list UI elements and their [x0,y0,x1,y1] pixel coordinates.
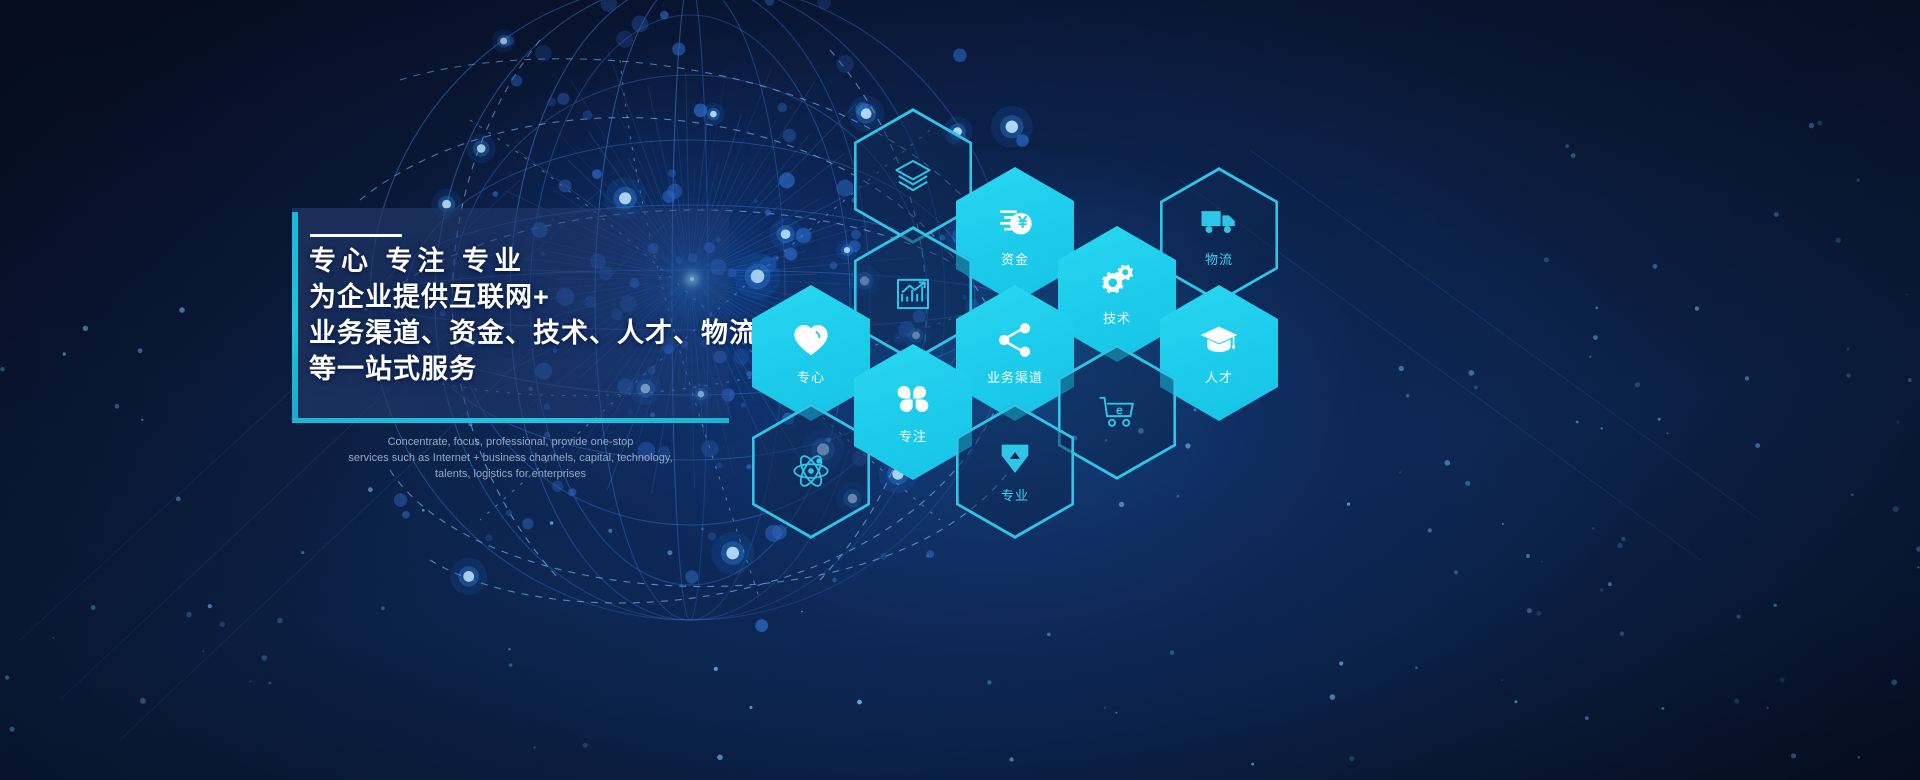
hex-label-zhuanxin: 专心 [797,367,825,386]
headline-line-1: 专心 专注 专业 [309,243,739,279]
hex-tile-zijin[interactable]: 资金 [956,167,1074,303]
panel-accent-bar-bottom [292,418,729,423]
hex-tile-atom[interactable] [752,403,870,539]
subtitle-line-1: Concentrate, focus, professional, provid… [292,434,729,450]
hex-tile-layers[interactable] [854,108,972,244]
hex-content-atom [791,451,831,491]
hex-label-rencai: 人才 [1205,367,1233,386]
hex-content-layers [893,156,933,196]
subtitle-text: Concentrate, focus, professional, provid… [292,434,729,482]
hex-tile-jishu[interactable]: 技术 [1058,226,1176,362]
headline-line-4: 等一站式服务 [309,351,739,387]
hex-tile-rencai[interactable]: 人才 [1160,285,1278,421]
heart-icon [791,320,831,360]
graduation-cap-icon [1199,320,1239,360]
headline-line-3: 业务渠道、资金、技术、人才、物流 [309,315,739,351]
headline-rule [310,234,402,237]
hex-content-zhuanye: 专业 [995,438,1035,504]
hex-content-jishu: 技术 [1097,261,1137,327]
diamond-icon [995,438,1035,478]
hex-tile-yewu[interactable]: 业务渠道 [956,285,1074,421]
hex-label-wuliu: 物流 [1205,249,1233,268]
hex-content-chart [893,274,933,314]
hex-content-zijin: 资金 [995,202,1035,268]
hex-tile-cart[interactable]: e [1058,344,1176,480]
truck-icon [1199,202,1239,242]
hex-content-cart: e [1097,392,1137,432]
subtitle-line-2: services such as Internet + business cha… [292,450,729,466]
hex-tile-zhuanxin[interactable]: 专心 [752,285,870,421]
subtitle-line-3: talents, logistics for enterprises [292,466,729,482]
headline-text: 专心 专注 专业 为企业提供互联网+ 业务渠道、资金、技术、人才、物流 等一站式… [309,243,739,387]
panel-accent-bar-left [292,212,298,420]
gears-icon [1097,261,1137,301]
atom-icon [791,451,831,491]
hex-content-zhuanzhu: 专注 [893,379,933,445]
headline-line-2: 为企业提供互联网+ [309,279,739,315]
hexagon-feature-grid: 资金物流技术专心业务渠道人才专注e专业 [740,100,1300,530]
money-yen-icon [995,202,1035,242]
hex-content-rencai: 人才 [1199,320,1239,386]
hex-label-zhuanzhu: 专注 [899,426,927,445]
hex-content-wuliu: 物流 [1199,202,1239,268]
hex-tile-wuliu[interactable]: 物流 [1160,167,1278,303]
banner-hero: 专心 专注 专业 为企业提供互联网+ 业务渠道、资金、技术、人才、物流 等一站式… [0,0,1920,780]
share-nodes-icon [995,320,1035,360]
hex-content-zhuanxin: 专心 [791,320,831,386]
layers-icon [893,156,933,196]
ecommerce-cart-icon: e [1097,392,1137,432]
chart-growth-icon [893,274,933,314]
hex-label-jishu: 技术 [1103,308,1131,327]
clover-icon [893,379,933,419]
hex-label-zijin: 资金 [1001,249,1029,268]
hex-tile-chart[interactable] [854,226,972,362]
hex-content-yewu: 业务渠道 [987,320,1043,386]
hex-tile-zhuanye[interactable]: 专业 [956,403,1074,539]
svg-text:e: e [1116,404,1123,418]
hex-label-yewu: 业务渠道 [987,367,1043,386]
hex-label-zhuanye: 专业 [1001,485,1029,504]
hex-tile-zhuanzhu[interactable]: 专注 [854,344,972,480]
